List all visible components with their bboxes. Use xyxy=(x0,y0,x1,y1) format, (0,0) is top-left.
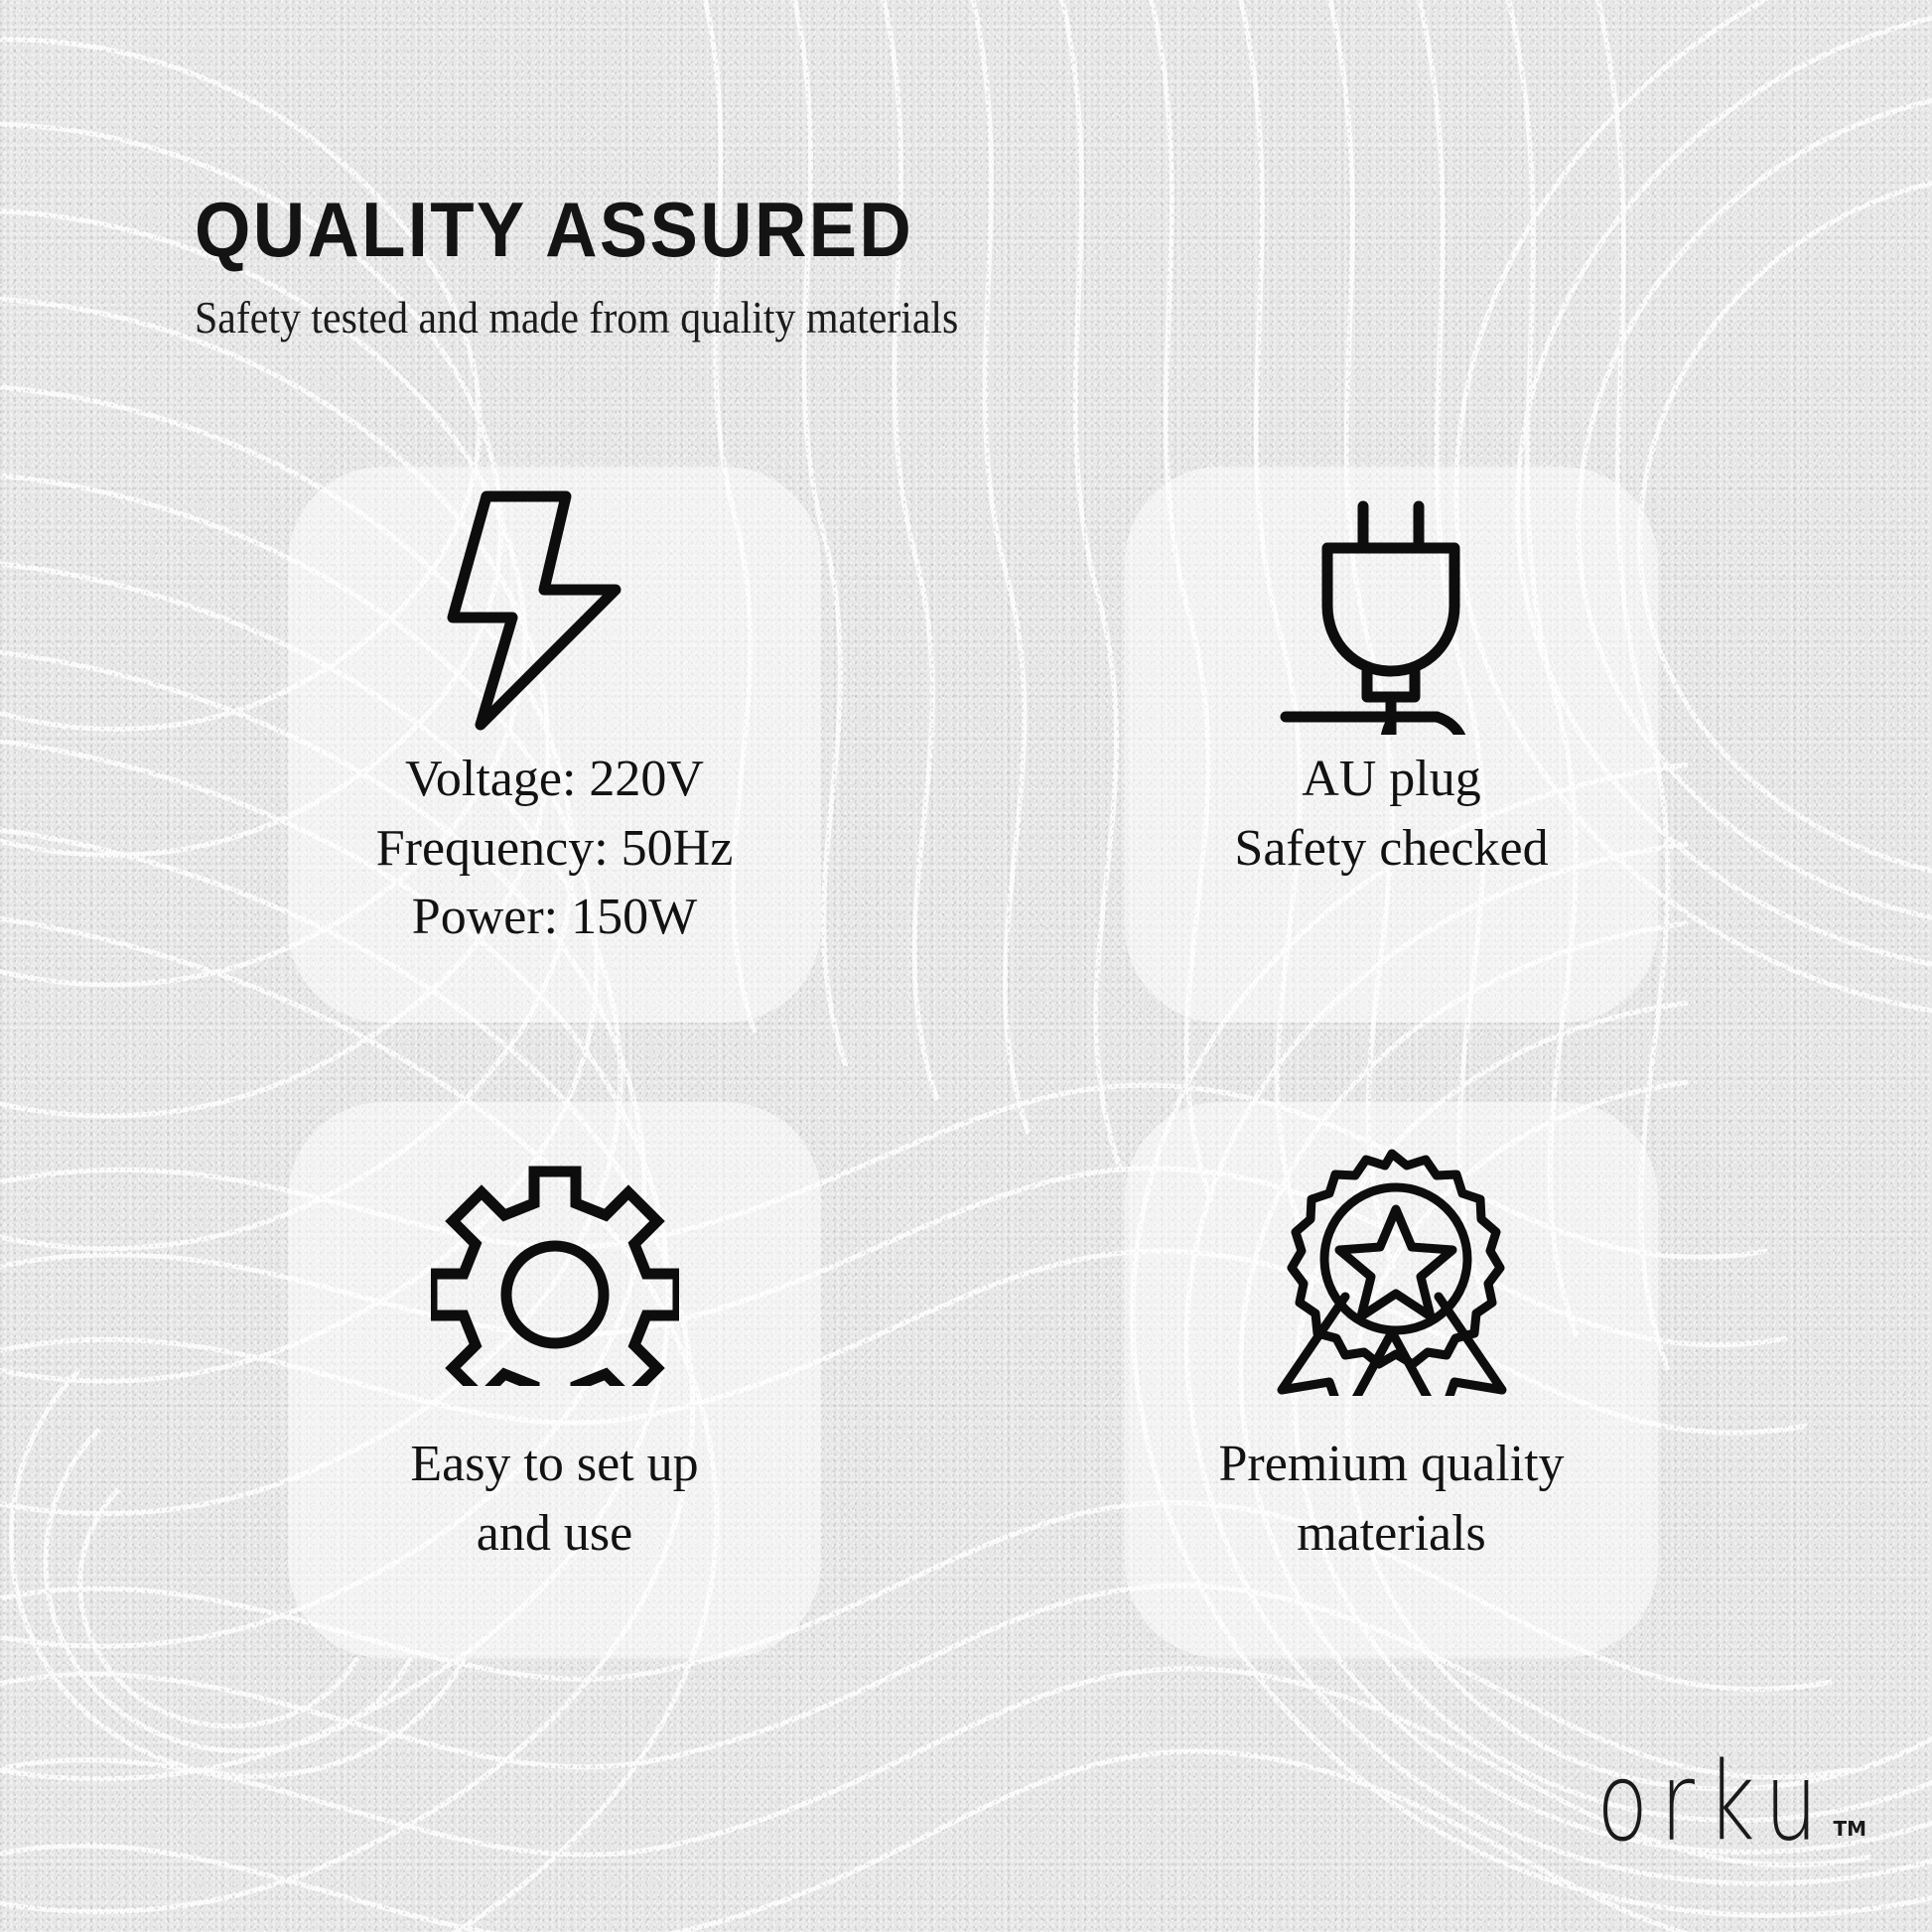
brand-logo: orku TM xyxy=(1577,1770,1866,1849)
brand-logo-wordmark: orku xyxy=(1596,1756,1829,1849)
page-subtitle: Safety tested and made from quality mate… xyxy=(195,294,1303,344)
award-rosette-icon xyxy=(1268,1148,1516,1396)
feature-card-plug: AU plug Safety checked xyxy=(1125,467,1658,1023)
feature-card-grid: Voltage: 220V Frequency: 50Hz Power: 150… xyxy=(288,467,1658,1658)
feature-card-text: Voltage: 220V Frequency: 50Hz Power: 150… xyxy=(376,745,734,952)
feature-card-text: AU plug Safety checked xyxy=(1234,745,1548,883)
page-title: QUALITY ASSURED xyxy=(195,191,1303,268)
power-plug-icon xyxy=(1268,486,1516,735)
header-block: QUALITY ASSURED Safety tested and made f… xyxy=(195,191,1386,344)
lightning-bolt-icon xyxy=(441,486,669,735)
feature-card-specifications: Voltage: 220V Frequency: 50Hz Power: 150… xyxy=(288,467,821,1023)
poster-canvas: QUALITY ASSURED Safety tested and made f… xyxy=(0,0,1932,1932)
feature-card-setup: Easy to set up and use xyxy=(288,1102,821,1658)
feature-card-text: Premium quality materials xyxy=(1218,1430,1564,1568)
feature-card-quality: Premium quality materials xyxy=(1125,1102,1658,1658)
feature-card-text: Easy to set up and use xyxy=(410,1430,698,1568)
trademark-symbol: TM xyxy=(1833,1817,1866,1841)
gear-icon xyxy=(431,1148,679,1396)
